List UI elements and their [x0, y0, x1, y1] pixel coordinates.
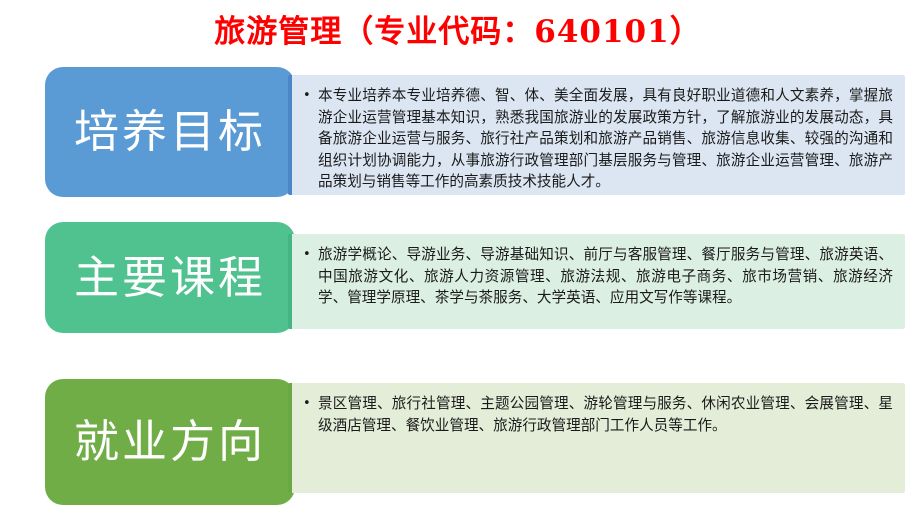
bullet-list: 本专业培养本专业培养德、智、体、美全面发展，具有良好职业道德和人文素养，掌握旅游…	[292, 75, 905, 203]
section-label-text: 主要课程	[74, 254, 266, 301]
section-label-text: 培养目标	[74, 108, 266, 155]
list-item: 本专业培养本专业培养德、智、体、美全面发展，具有良好职业道德和人文素养，掌握旅游…	[318, 85, 893, 193]
section-row-training-goal: 培养目标 本专业培养本专业培养德、智、体、美全面发展，具有良好职业道德和人文素养…	[0, 63, 916, 203]
section-content-panel-employment-direction: 景区管理、旅行社管理、主题公园管理、游轮管理与服务、休闲农业管理、会展管理、星级…	[288, 383, 905, 493]
section-label-box-employment-direction: 就业方向	[45, 379, 295, 505]
list-item: 景区管理、旅行社管理、主题公园管理、游轮管理与服务、休闲农业管理、会展管理、星级…	[318, 393, 893, 436]
section-row-main-courses: 主要课程 旅游学概论、导游业务、导游基础知识、前厅与客服管理、餐厅服务与管理、旅…	[0, 222, 916, 337]
list-item: 旅游学概论、导游业务、导游基础知识、前厅与客服管理、餐厅服务与管理、旅游英语、中…	[318, 244, 893, 309]
section-label-box-training-goal: 培养目标	[45, 67, 295, 197]
slide-canvas: 旅游管理（专业代码：640101） 培养目标 本专业培养本专业培养德、智、体、美…	[0, 0, 916, 517]
section-content-panel-training-goal: 本专业培养本专业培养德、智、体、美全面发展，具有良好职业道德和人文素养，掌握旅游…	[288, 75, 905, 195]
page-title: 旅游管理（专业代码：640101）	[0, 13, 916, 51]
bullet-list: 旅游学概论、导游业务、导游基础知识、前厅与客服管理、餐厅服务与管理、旅游英语、中…	[292, 234, 905, 319]
section-content-panel-main-courses: 旅游学概论、导游业务、导游基础知识、前厅与客服管理、餐厅服务与管理、旅游英语、中…	[288, 234, 905, 329]
section-row-employment-direction: 就业方向 景区管理、旅行社管理、主题公园管理、游轮管理与服务、休闲农业管理、会展…	[0, 379, 916, 509]
bullet-list: 景区管理、旅行社管理、主题公园管理、游轮管理与服务、休闲农业管理、会展管理、星级…	[292, 383, 905, 446]
section-label-text: 就业方向	[74, 418, 266, 465]
section-label-box-main-courses: 主要课程	[45, 222, 295, 333]
